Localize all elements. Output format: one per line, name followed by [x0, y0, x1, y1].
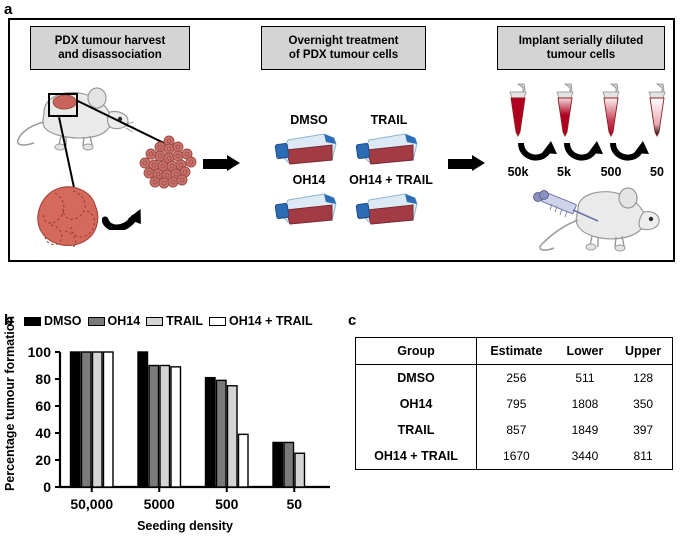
- flask-label-oh14: OH14: [278, 173, 340, 187]
- table-cell-estimate: 795: [477, 391, 556, 417]
- table-header-row: Group Estimate Lower Upper: [356, 338, 673, 365]
- chart-bar: [138, 352, 148, 487]
- table-col-lower: Lower: [556, 338, 615, 365]
- legend-item-trail: TRAIL: [146, 314, 203, 328]
- stage-header-treatment-line1: Overnight treatment: [289, 35, 399, 47]
- culture-flask-icon-oh14: [272, 190, 340, 230]
- culture-flask-icon-trail: [353, 130, 421, 170]
- curved-arrow-icon-harvest: [102, 192, 148, 230]
- chart-bar: [82, 352, 92, 487]
- microcentrifuge-tube-icon-1: [505, 82, 531, 140]
- dilution-arrow-icon-1: [517, 141, 557, 165]
- table-cell-lower: 3440: [556, 443, 615, 470]
- legend-item-oh14-trail: OH14 + TRAIL: [209, 314, 313, 328]
- x-axis-tick-label: 50: [286, 496, 302, 512]
- chart-legend: DMSO OH14 TRAIL OH14 + TRAIL: [24, 313, 313, 329]
- stage-header-harvest-line1: PDX tumour harvest: [55, 35, 166, 47]
- legend-label-oh14: OH14: [108, 314, 141, 328]
- chart-bar: [295, 453, 305, 487]
- stage-header-treatment-line2: of PDX tumour cells: [289, 49, 398, 61]
- chart-bar: [71, 352, 81, 487]
- table-row: OH147951808350: [356, 391, 673, 417]
- disassociated-cells-illustration: [135, 135, 203, 190]
- legend-item-oh14: OH14: [88, 314, 141, 328]
- x-axis-tick-label: 500: [215, 496, 239, 512]
- culture-flask-icon-oh14-trail: [353, 190, 421, 230]
- dilution-label-500: 500: [588, 165, 634, 179]
- dilution-label-5k: 5k: [541, 165, 587, 179]
- table-cell-group: OH14: [356, 391, 477, 417]
- stage-header-harvest-line2: and disassociation: [58, 49, 162, 61]
- dilution-label-50: 50: [634, 165, 680, 179]
- stage-header-harvest: PDX tumour harvest and disassociation: [30, 26, 190, 70]
- x-axis-tick-label: 5000: [144, 496, 175, 512]
- table-cell-group: OH14 + TRAIL: [356, 443, 477, 470]
- flask-label-dmso: DMSO: [278, 113, 340, 127]
- legend-label-dmso: DMSO: [44, 314, 82, 328]
- table-row: TRAIL8571849397: [356, 417, 673, 443]
- flask-label-trail: TRAIL: [358, 113, 420, 127]
- stage-header-treatment: Overnight treatment of PDX tumour cells: [261, 26, 426, 70]
- legend-swatch-oh14: [88, 317, 105, 326]
- flask-label-oh14-trail: OH14 + TRAIL: [343, 173, 439, 187]
- table-col-upper: Upper: [614, 338, 672, 365]
- chart-bar: [228, 386, 238, 487]
- dilution-arrow-icon-3: [609, 141, 649, 165]
- dilution-arrow-icon-2: [563, 141, 603, 165]
- mouse-injection-illustration: [520, 186, 660, 252]
- chart-bar: [284, 442, 294, 487]
- legend-swatch-oh14-trail: [209, 317, 226, 326]
- y-axis-tick-label: 60: [35, 398, 51, 414]
- y-axis-tick-label: 0: [43, 479, 51, 495]
- legend-label-oh14-trail: OH14 + TRAIL: [229, 314, 313, 328]
- stage-header-implant-line1: Implant serially diluted: [519, 35, 644, 47]
- limiting-dilution-table: Group Estimate Lower Upper DMSO256511128…: [355, 337, 673, 470]
- y-axis-tick-label: 20: [35, 452, 51, 468]
- microcentrifuge-tube-icon-3: [598, 82, 624, 140]
- legend-swatch-trail: [146, 317, 163, 326]
- microcentrifuge-tube-icon-2: [552, 82, 578, 140]
- panel-c-letter: c: [348, 313, 356, 328]
- stage-header-implant-line2: tumour cells: [547, 49, 615, 61]
- table-cell-upper: 350: [614, 391, 672, 417]
- chart-bar: [273, 442, 283, 487]
- table-cell-estimate: 256: [477, 365, 556, 392]
- chart-bar: [206, 378, 216, 487]
- table-cell-lower: 1849: [556, 417, 615, 443]
- y-axis-tick-label: 80: [35, 371, 51, 387]
- chart-bar: [93, 352, 103, 487]
- y-axis-tick-label: 100: [28, 344, 52, 360]
- table-cell-upper: 811: [614, 443, 672, 470]
- chart-bar: [239, 434, 249, 487]
- table-cell-estimate: 857: [477, 417, 556, 443]
- bar-chart: 02040608010050,000500050050: [0, 336, 340, 543]
- table-cell-upper: 128: [614, 365, 672, 392]
- table-row: DMSO256511128: [356, 365, 673, 392]
- tumour-tissue-illustration: [35, 185, 103, 247]
- flow-arrow-icon-2: [448, 155, 486, 172]
- table-cell-group: DMSO: [356, 365, 477, 392]
- chart-bar: [217, 380, 227, 487]
- flow-arrow-icon-1: [203, 155, 241, 172]
- x-axis-tick-label: 50,000: [70, 496, 113, 512]
- chart-bar: [149, 366, 159, 488]
- chart-bar: [104, 352, 114, 487]
- chart-bar: [171, 367, 181, 487]
- culture-flask-icon-dmso: [272, 130, 340, 170]
- table-cell-upper: 397: [614, 417, 672, 443]
- legend-label-trail: TRAIL: [166, 314, 203, 328]
- table-row: OH14 + TRAIL16703440811: [356, 443, 673, 470]
- dilution-label-50k: 50k: [495, 165, 541, 179]
- y-axis-tick-label: 40: [35, 425, 51, 441]
- table-cell-estimate: 1670: [477, 443, 556, 470]
- microcentrifuge-tube-icon-4: [644, 82, 670, 140]
- tumour-site-callout-box: [48, 93, 78, 117]
- legend-swatch-dmso: [24, 317, 41, 326]
- stage-header-implant: Implant serially diluted tumour cells: [497, 26, 665, 70]
- chart-bar: [160, 366, 170, 488]
- table-cell-lower: 511: [556, 365, 615, 392]
- table-col-group: Group: [356, 338, 477, 365]
- table-cell-lower: 1808: [556, 391, 615, 417]
- legend-item-dmso: DMSO: [24, 314, 82, 328]
- panel-a-letter: a: [4, 2, 12, 17]
- chart-x-axis-label: Seeding density: [60, 519, 310, 533]
- table-col-estimate: Estimate: [477, 338, 556, 365]
- table-cell-group: TRAIL: [356, 417, 477, 443]
